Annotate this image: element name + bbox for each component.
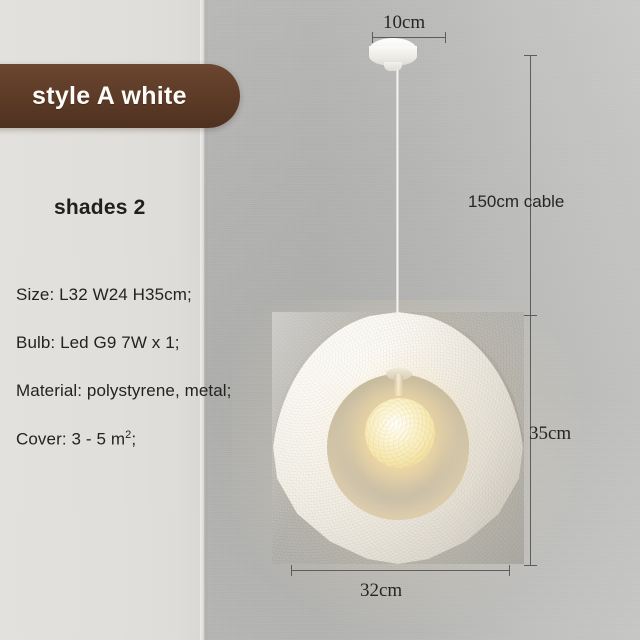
dimension-label-cable-length: 150cm cable (468, 192, 564, 212)
glowing-bulb (365, 398, 435, 468)
dimension-tick-canopy-right (445, 32, 446, 43)
style-badge-label: style A white (32, 82, 187, 111)
spec-bulb: Bulb: Led G9 7W x 1; (16, 333, 180, 353)
product-spec-image: style A white shades 2 Size: L32 W24 H35… (0, 0, 640, 640)
ceiling-canopy-base (384, 62, 402, 71)
dimension-tick-shade-bottom (524, 565, 537, 566)
dimension-tick-width-left (291, 565, 292, 576)
dimension-label-shade-height: 35cm (529, 423, 571, 445)
spec-size: Size: L32 W24 H35cm; (16, 285, 192, 305)
style-badge: style A white (0, 64, 240, 128)
spec-cover: Cover: 3 - 5 m2; (16, 429, 136, 450)
dimension-label-shade-width: 32cm (360, 580, 402, 602)
dimension-tick-canopy-left (372, 32, 373, 43)
dimension-line-cable-length (530, 55, 531, 316)
spec-material: Material: polystyrene, metal; (16, 381, 231, 401)
dimension-tick-width-right (509, 565, 510, 576)
product-title: shades 2 (54, 196, 146, 220)
bulb-socket-stem (394, 374, 403, 396)
spec-cover-text: Cover: 3 - 5 m (16, 430, 125, 449)
lamp-shade (272, 312, 524, 564)
hanging-cable (396, 68, 399, 322)
spec-cover-superscript: 2 (125, 429, 131, 441)
dimension-tick-cable-top (524, 55, 537, 56)
dimension-line-canopy-width (372, 37, 446, 38)
dimension-line-shade-width (291, 570, 510, 571)
dimension-label-canopy-width: 10cm (383, 12, 425, 34)
